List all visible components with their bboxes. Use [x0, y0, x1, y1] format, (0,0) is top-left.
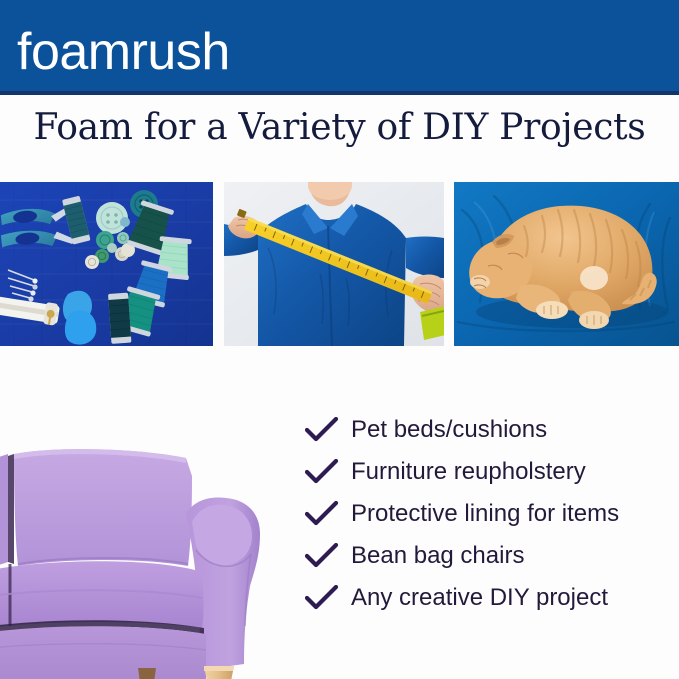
list-item: Furniture reupholstery — [305, 451, 679, 493]
checkmark-icon — [305, 543, 351, 569]
sofa-illustration — [0, 438, 286, 679]
header-band: foamrush — [0, 0, 679, 95]
cat-on-beanbag-photo — [454, 182, 679, 346]
list-item: Any creative DIY project — [305, 577, 679, 619]
photo-strip — [0, 182, 679, 346]
sewing-supplies-photo — [0, 182, 213, 346]
list-item-label: Pet beds/cushions — [351, 416, 547, 444]
checkmark-icon — [305, 501, 351, 527]
list-item: Protective lining for items — [305, 493, 679, 535]
list-item-label: Bean bag chairs — [351, 542, 524, 570]
checkmark-icon — [305, 459, 351, 485]
brand-logo[interactable]: foamrush — [17, 26, 230, 78]
list-item: Pet beds/cushions — [305, 409, 679, 451]
header-underline-rule — [0, 91, 679, 95]
tape-measure-photo — [224, 182, 444, 346]
list-item-label: Protective lining for items — [351, 500, 619, 528]
list-item-label: Any creative DIY project — [351, 584, 608, 612]
checkmark-icon — [305, 585, 351, 611]
list-item-label: Furniture reupholstery — [351, 458, 586, 486]
list-item: Bean bag chairs — [305, 535, 679, 577]
checkmark-icon — [305, 417, 351, 443]
page-title: Foam for a Variety of DIY Projects — [0, 106, 679, 150]
marketing-banner: foamrush Foam for a Variety of DIY Proje… — [0, 0, 679, 679]
benefits-list: Pet beds/cushions Furniture reupholstery… — [305, 409, 679, 619]
